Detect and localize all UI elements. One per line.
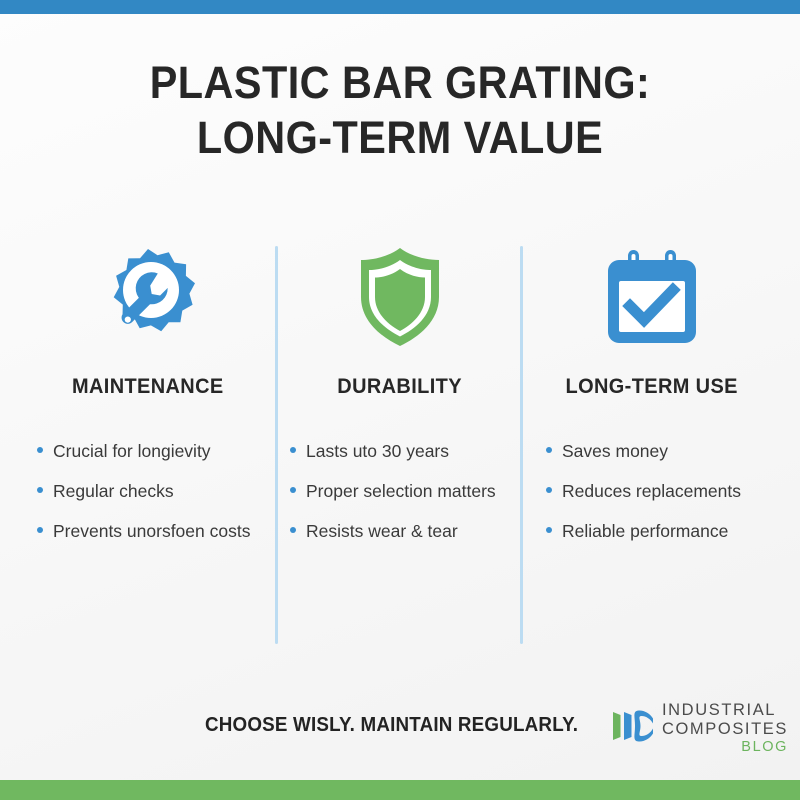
shield-icon xyxy=(354,240,446,355)
logo-line-blog: BLOG xyxy=(662,740,788,755)
column-heading-durability: DURABILITY xyxy=(338,375,463,399)
gear-wrench-icon xyxy=(94,240,202,355)
bullet-dot-icon xyxy=(546,487,552,493)
bullet-text: Crucial for longievity xyxy=(53,441,211,461)
feature-column-durability: DURABILITY Lasts uto 30 years Proper sel… xyxy=(274,232,526,561)
bullet-dot-icon xyxy=(290,447,296,453)
brand-logo: INDUSTRIAL COMPOSITES BLOG xyxy=(611,702,788,755)
logo-wordmark: INDUSTRIAL COMPOSITES BLOG xyxy=(662,702,788,755)
bullet-dot-icon xyxy=(290,527,296,533)
list-item: Proper selection matters xyxy=(290,481,530,501)
logo-line-industrial: INDUSTRIAL xyxy=(662,702,788,719)
bullet-dot-icon xyxy=(37,447,43,453)
bullet-text: Reduces replacements xyxy=(562,481,741,501)
infographic-body: PLASTIC BAR GRATING: LONG-TERM VALUE xyxy=(0,14,800,780)
feature-columns: MAINTENANCE Crucial for longievity Regul… xyxy=(22,232,778,561)
bullet-text: Proper selection matters xyxy=(306,481,496,501)
footer: CHOOSE WISLY. MAINTAIN REGULARLY. INDUST… xyxy=(0,700,800,756)
list-item: Saves money xyxy=(546,441,786,461)
list-item: Resists wear & tear xyxy=(290,521,530,541)
list-item: Crucial for longievity xyxy=(37,441,277,461)
bullet-text: Reliable performance xyxy=(562,521,728,541)
feature-column-maintenance: MAINTENANCE Crucial for longievity Regul… xyxy=(22,232,274,561)
bullet-list-durability: Lasts uto 30 years Proper selection matt… xyxy=(270,441,530,561)
column-heading-long-term-use: LONG-TERM USE xyxy=(566,375,738,399)
bullet-list-long-term-use: Saves money Reduces replacements Reliabl… xyxy=(518,441,786,561)
infographic-canvas: PLASTIC BAR GRATING: LONG-TERM VALUE xyxy=(0,0,800,800)
footer-tagline: CHOOSE WISLY. MAINTAIN REGULARLY. xyxy=(205,714,578,737)
list-item: Regular checks xyxy=(37,481,277,501)
bullet-dot-icon xyxy=(546,447,552,453)
title-line-1: PLASTIC BAR GRATING: xyxy=(32,56,768,111)
bullet-text: Prevents unorsfoen costs xyxy=(53,521,250,541)
calendar-check-icon xyxy=(602,240,702,355)
bullet-text: Regular checks xyxy=(53,481,174,501)
title-line-2: LONG-TERM VALUE xyxy=(32,111,768,166)
bullet-text: Resists wear & tear xyxy=(306,521,458,541)
bullet-dot-icon xyxy=(546,527,552,533)
list-item: Reliable performance xyxy=(546,521,786,541)
feature-column-long-term-use: LONG-TERM USE Saves money Reduces replac… xyxy=(526,232,778,561)
page-title: PLASTIC BAR GRATING: LONG-TERM VALUE xyxy=(0,56,800,166)
bullet-dot-icon xyxy=(290,487,296,493)
logo-line-composites: COMPOSITES xyxy=(662,721,788,738)
bottom-accent-bar xyxy=(0,780,800,800)
list-item: Prevents unorsfoen costs xyxy=(37,521,277,541)
bullet-dot-icon xyxy=(37,527,43,533)
bullet-dot-icon xyxy=(37,487,43,493)
list-item: Lasts uto 30 years xyxy=(290,441,530,461)
column-heading-maintenance: MAINTENANCE xyxy=(72,375,224,399)
list-item: Reduces replacements xyxy=(546,481,786,501)
bullet-text: Lasts uto 30 years xyxy=(306,441,449,461)
bullet-list-maintenance: Crucial for longievity Regular checks Pr… xyxy=(19,441,277,561)
bullet-text: Saves money xyxy=(562,441,668,461)
ic-monogram-logo-icon xyxy=(611,708,655,749)
top-accent-bar xyxy=(0,0,800,14)
